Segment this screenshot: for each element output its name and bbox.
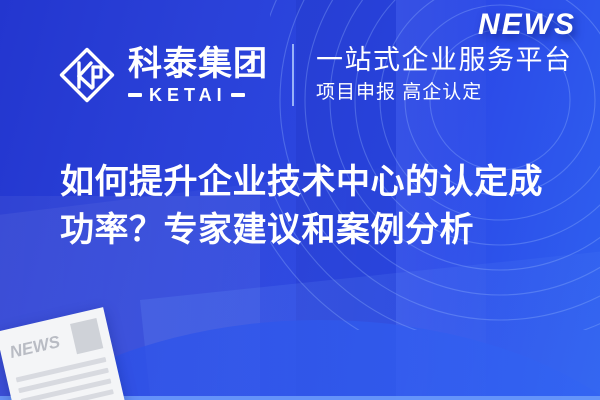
ketai-diamond-monogram-icon <box>58 46 116 104</box>
news-badge: NEWS <box>478 8 576 42</box>
brand-name-en-row: KETAI <box>128 86 268 104</box>
image-placeholder-icon <box>70 318 103 354</box>
news-banner: NEWS 科泰集团 KE <box>0 0 600 400</box>
page-title: 如何提升企业技术中心的认定成功率？专家建议和案例分析 <box>60 158 570 254</box>
brand-wordmark: 科泰集团 KETAI <box>128 47 268 104</box>
tagline-main: 一站式企业服务平台 <box>316 45 573 76</box>
brand-name-cn: 科泰集团 <box>128 47 268 81</box>
brand-header: 科泰集团 KETAI 一站式企业服务平台 项目申报 高企认定 <box>58 38 573 112</box>
newspaper-masthead: NEWS <box>8 333 62 361</box>
brand-name-en: KETAI <box>149 86 227 104</box>
tagline-group: 一站式企业服务平台 项目申报 高企认定 <box>316 45 573 105</box>
wordmark-dash-right-icon <box>231 93 245 97</box>
header-divider <box>292 44 294 106</box>
wordmark-dash-left-icon <box>128 93 142 97</box>
tagline-sub: 项目申报 高企认定 <box>316 82 573 105</box>
